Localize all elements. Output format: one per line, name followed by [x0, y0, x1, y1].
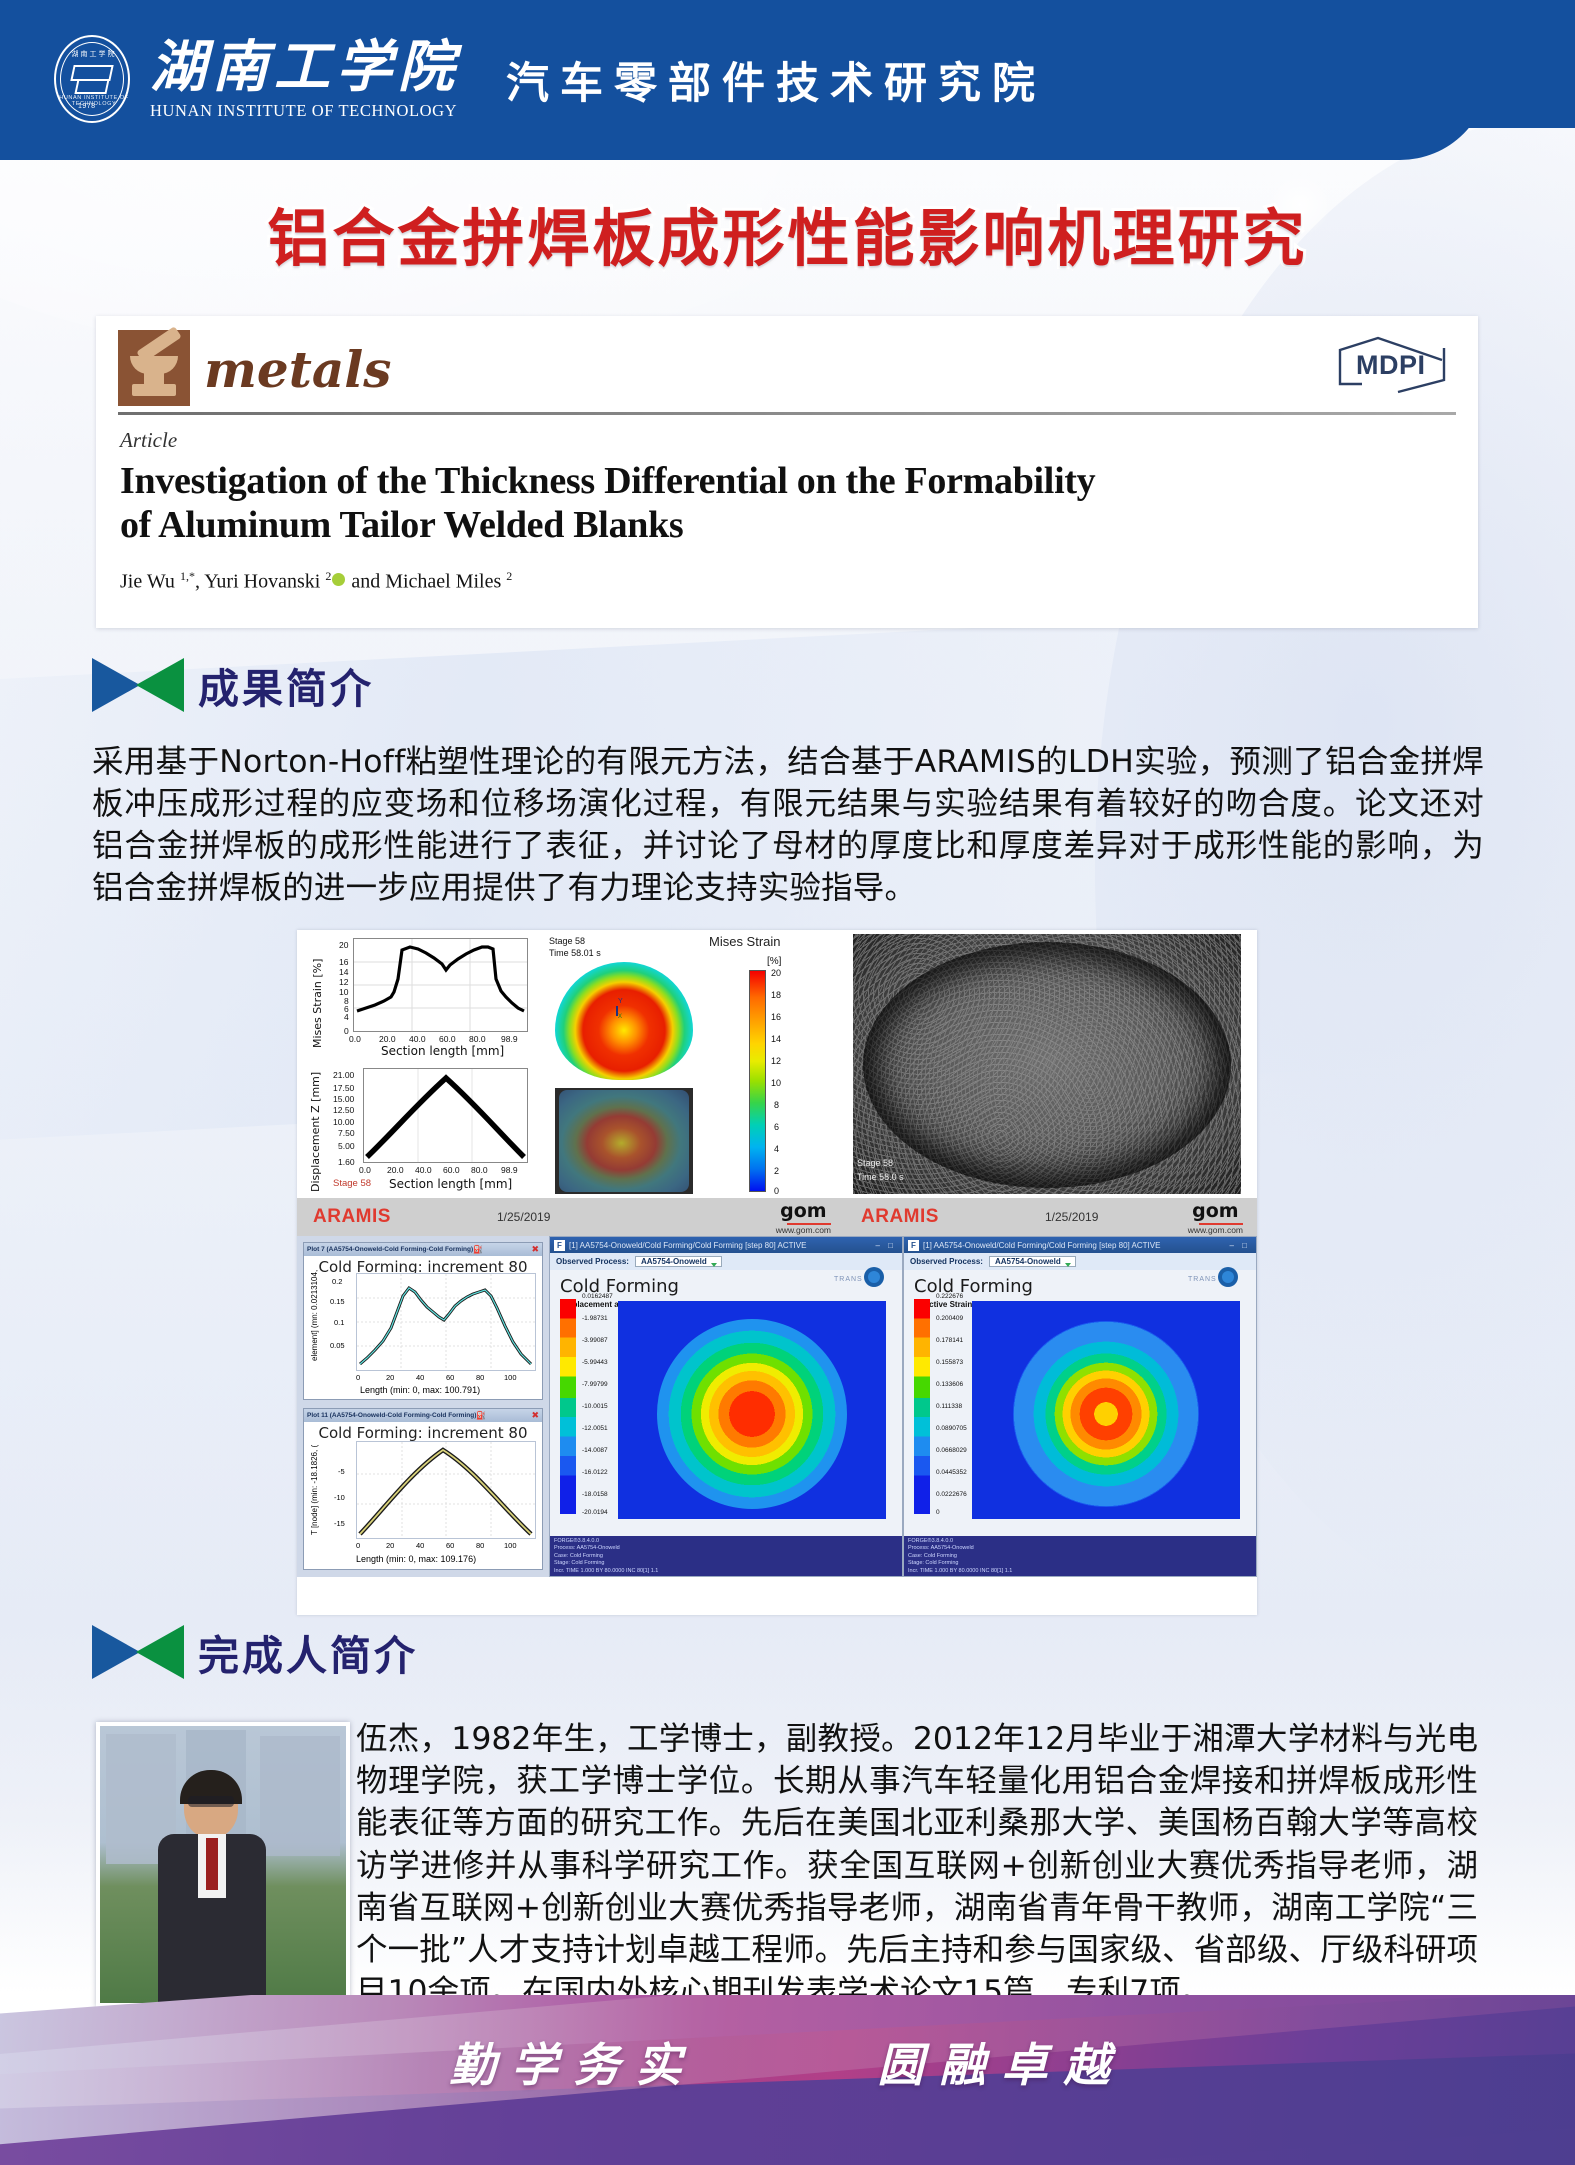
plot11-chart-title: Cold Forming: increment 80 — [304, 1424, 542, 1442]
close-icon[interactable]: ✖ — [531, 1244, 542, 1255]
gom-wordmark-left: gom — [776, 1200, 831, 1222]
bowtie-arrow-icon — [92, 1625, 184, 1679]
forge-left-footer-text: FORGE®3.8.4.0.0 Process: AA5754-Onoweld … — [554, 1538, 658, 1574]
scale-label-3: -5.99443 — [582, 1359, 608, 1366]
forge-right-colorbar — [914, 1299, 930, 1514]
aramis-left-panel: Mises Strain [%] 20 16 14 12 10 8 6 4 0 … — [297, 930, 845, 1198]
plot11-titlebar[interactable]: Plot 11 (AA5754-Onoweld-Cold Forming-Col… — [304, 1409, 542, 1422]
aramis-date-left: 1/25/2019 — [497, 1210, 550, 1224]
time-label: Time 58.01 s — [549, 948, 601, 959]
scale-label-0: 0.222676 — [936, 1293, 963, 1300]
forge-left-title-text: [1] AA5754-Onoweld/Cold Forming/Cold For… — [569, 1241, 806, 1250]
article-title-line2: of Aluminum Tailor Welded Blanks — [120, 504, 683, 546]
aramis-right-panel: Stage 58 Time 58.0 s — [845, 930, 1257, 1198]
orcid-icon[interactable] — [332, 573, 345, 586]
chart-top-plot — [353, 938, 528, 1032]
chart-bottom-plot — [363, 1068, 528, 1163]
plot11-ylabel: T [node] (min: -18.1826, ( — [310, 1445, 319, 1535]
aramis-bar-right: ARAMIS 1/25/2019 gom www.gom.com — [845, 1198, 1257, 1236]
university-name-en: HUNAN INSTITUTE OF TECHNOLOGY — [150, 101, 460, 121]
author-2-affil: 2 — [325, 569, 331, 583]
scale-label-7: -14.0087 — [582, 1447, 608, 1454]
paper-header-card: metals MDPI Article Investigation of the… — [96, 316, 1478, 628]
plot7-ylabel: element] (mn: 0.0213104, — [310, 1270, 319, 1361]
author-3: and Michael Miles — [346, 571, 506, 593]
stage-label: Stage 58 — [549, 936, 585, 947]
stage-footer-label: Stage 58 — [333, 1178, 371, 1189]
forge-left-contour — [618, 1301, 886, 1519]
wrench-icon[interactable]: ⛽ — [473, 1245, 486, 1254]
author-bio-text: 伍杰，1982年生，工学博士，副教授。2012年12月毕业于湘潭大学材料与光电物… — [356, 1718, 1478, 2013]
forge-app-icon: F — [908, 1240, 919, 1251]
forge-window-displacement[interactable]: F [1] AA5754-Onoweld/Cold Forming/Cold F… — [549, 1236, 903, 1577]
plot7-xlabel: Length (min: 0, max: 100.791) — [360, 1385, 480, 1395]
scale-label-4: -7.99799 — [582, 1381, 608, 1388]
forge-right-contour — [972, 1301, 1240, 1519]
scale-label-8: 0.0445352 — [936, 1469, 967, 1476]
aramis-footer-bars: ARAMIS 1/25/2019 gom www.gom.com ARAMIS … — [297, 1198, 1257, 1236]
observed-process-label: Observed Process: — [556, 1257, 629, 1266]
time-label-right: Time 58.0 s — [857, 1172, 904, 1183]
forge-app-icon: F — [554, 1240, 565, 1251]
aramis-brand-left: ARAMIS — [313, 1206, 391, 1228]
aramis-figure-row: Mises Strain [%] 20 16 14 12 10 8 6 4 0 … — [297, 930, 1257, 1198]
mdpi-logo: MDPI — [1332, 336, 1450, 394]
window-controls[interactable]: – □ — [1229, 1241, 1256, 1250]
gom-logo-left: gom www.gom.com — [776, 1200, 831, 1235]
plot7-window[interactable]: Plot 7 (AA5754-Onoweld-Cold Forming-Cold… — [303, 1242, 543, 1400]
scale-label-3: 0.155873 — [936, 1359, 963, 1366]
section-header-results: 成果简介 — [92, 655, 374, 715]
scale-label-0: 0.0162487 — [582, 1293, 613, 1300]
scale-label-4: 0.133606 — [936, 1381, 963, 1388]
summary-paragraph: 采用基于Norton-Hoff粘塑性理论的有限元方法，结合基于ARAMIS的LD… — [92, 742, 1484, 910]
journal-name: metals — [204, 340, 391, 399]
plot7-titlebar[interactable]: Plot 7 (AA5754-Onoweld-Cold Forming-Cold… — [304, 1243, 542, 1256]
mises-colorbar — [749, 970, 766, 1192]
chart-bottom-xlabel: Section length [mm] — [389, 1177, 512, 1191]
stage-label-right: Stage 58 — [857, 1158, 893, 1169]
chart-top-curve — [354, 939, 527, 1031]
section-header-bio: 完成人简介 — [92, 1622, 418, 1682]
section-title-results: 成果简介 — [198, 655, 374, 715]
plot11-xlabel: Length (min: 0, max: 109.176) — [356, 1554, 476, 1564]
mises-strain-dome-contour: Y X — [555, 962, 693, 1080]
gom-url-left: www.gom.com — [776, 1225, 831, 1235]
scale-label-1: 0.200409 — [936, 1315, 963, 1322]
poster-header: 湖南工学院 1978 HUNAN INSTITUTE OF TECHNOLOGY… — [0, 0, 1575, 160]
plot7-canvas — [356, 1273, 536, 1371]
paper-divider — [118, 412, 1456, 415]
observed-process-dropdown[interactable]: AA5754-Onoweld — [989, 1256, 1076, 1267]
scale-label-2: 0.178141 — [936, 1337, 963, 1344]
scale-label-10: 0 — [936, 1509, 940, 1516]
poster-footer: 勤学务实 圆融卓越 — [0, 1995, 1575, 2165]
transvalor-logo: TRANS — [834, 1263, 892, 1295]
gom-wordmark-right: gom — [1188, 1200, 1243, 1222]
article-title-line1: Investigation of the Thickness Different… — [120, 460, 1095, 502]
chart-top-ylabel: Mises Strain [%] — [311, 959, 324, 1048]
author-1-affil: 1,* — [180, 569, 195, 583]
forge-right-title-text: [1] AA5754-Onoweld/Cold Forming/Cold For… — [923, 1241, 1160, 1250]
scale-label-1: -1.98731 — [582, 1315, 608, 1322]
forge-right-footer-text: FORGE®3.8.4.0.0 Process: AA5754-Onoweld … — [908, 1538, 1012, 1574]
forge-left-titlebar[interactable]: F [1] AA5754-Onoweld/Cold Forming/Cold F… — [550, 1237, 902, 1253]
wrench-icon[interactable]: ⛽ — [476, 1411, 489, 1420]
author-1: Jie Wu — [120, 571, 180, 593]
article-title: Investigation of the Thickness Different… — [120, 459, 1454, 547]
window-controls[interactable]: – □ — [875, 1241, 902, 1250]
metals-journal-icon — [118, 330, 190, 406]
chart-bottom-ylabel: Displacement Z [mm] — [309, 1072, 322, 1192]
seal-bottom-text: HUNAN INSTITUTE OF TECHNOLOGY — [58, 95, 130, 107]
speckle-specimen-photo — [853, 934, 1241, 1194]
scale-label-2: -3.99087 — [582, 1337, 608, 1344]
observed-process-dropdown[interactable]: AA5754-Onoweld — [635, 1256, 722, 1267]
scale-label-7: 0.0668029 — [936, 1447, 967, 1454]
poster-title: 铝合金拼焊板成形性能影响机理研究 — [0, 188, 1575, 278]
mises-strain-title: Mises Strain — [709, 934, 781, 949]
gom-url-right: www.gom.com — [1188, 1225, 1243, 1235]
scale-label-10: -20.0194 — [582, 1509, 608, 1516]
gom-logo-right: gom www.gom.com — [1188, 1200, 1243, 1235]
author-portrait — [96, 1722, 350, 2007]
close-icon[interactable]: ✖ — [531, 1410, 542, 1421]
footer-slogan-left: 勤学务实 — [450, 2029, 698, 2095]
observed-process-label: Observed Process: — [910, 1257, 983, 1266]
scale-label-9: 0.0222676 — [936, 1491, 967, 1498]
svg-text:TRANS: TRANS — [834, 1276, 863, 1283]
fea-simulation-row: Plot 7 (AA5754-Onoweld-Cold Forming-Cold… — [297, 1236, 1257, 1577]
article-type: Article — [120, 428, 1454, 453]
scale-label-8: -16.0122 — [582, 1469, 608, 1476]
forge-left-colorbar — [560, 1299, 576, 1514]
forge-left-footer: FORGE®3.8.4.0.0 Process: AA5754-Onoweld … — [550, 1536, 902, 1576]
institute-name-cn: 汽车零部件技术研究院 — [506, 49, 1046, 111]
plot11-title-text: Plot 11 (AA5754-Onoweld-Cold Forming-Col… — [307, 1412, 476, 1419]
aramis-date-right: 1/25/2019 — [1045, 1210, 1098, 1224]
scale-label-5: 0.111338 — [936, 1403, 962, 1410]
mdpi-text: MDPI — [1356, 350, 1426, 381]
aramis-brand-right: ARAMIS — [861, 1206, 939, 1228]
author-3-affil: 2 — [506, 569, 512, 583]
university-name-cn: 湖南工学院 — [150, 39, 460, 96]
scale-label-6: 0.0890705 — [936, 1425, 967, 1432]
section-title-bio: 完成人简介 — [198, 1622, 418, 1682]
forge-right-footer: FORGE®3.8.4.0.0 Process: AA5754-Onoweld … — [904, 1536, 1256, 1576]
authors-sep: , Yuri Hovanski — [195, 571, 325, 593]
forge-right-titlebar[interactable]: F [1] AA5754-Onoweld/Cold Forming/Cold F… — [904, 1237, 1256, 1253]
svg-text:TRANS: TRANS — [1188, 1276, 1217, 1283]
figure-composite: Mises Strain [%] 20 16 14 12 10 8 6 4 0 … — [297, 930, 1257, 1615]
forge-window-strain[interactable]: F [1] AA5754-Onoweld/Cold Forming/Cold F… — [903, 1236, 1257, 1577]
scale-label-9: -18.0158 — [582, 1491, 608, 1498]
plot11-window[interactable]: Plot 11 (AA5754-Onoweld-Cold Forming-Col… — [303, 1408, 543, 1570]
aramis-bar-left: ARAMIS 1/25/2019 gom www.gom.com — [297, 1198, 845, 1236]
footer-slogan-right: 圆融卓越 — [878, 2029, 1126, 2095]
specimen-photo-overlay — [555, 1088, 693, 1194]
article-authors: Jie Wu 1,*, Yuri Hovanski 2 and Michael … — [120, 569, 1454, 594]
mises-strain-unit: [%] — [767, 956, 781, 967]
plot11-canvas — [356, 1441, 536, 1539]
chart-bottom-curve — [364, 1069, 527, 1162]
scale-label-5: -10.0015 — [582, 1403, 608, 1410]
transvalor-logo: TRANS — [1188, 1263, 1246, 1295]
bowtie-arrow-icon — [92, 658, 184, 712]
plot7-title-text: Plot 7 (AA5754-Onoweld-Cold Forming-Cold… — [307, 1246, 473, 1253]
chart-top-xlabel: Section length [mm] — [381, 1044, 504, 1058]
fea-plots-column: Plot 7 (AA5754-Onoweld-Cold Forming-Cold… — [297, 1236, 549, 1577]
university-seal-logo: 湖南工学院 1978 HUNAN INSTITUTE OF TECHNOLOGY — [52, 33, 136, 127]
scale-label-6: -12.0051 — [582, 1425, 608, 1432]
